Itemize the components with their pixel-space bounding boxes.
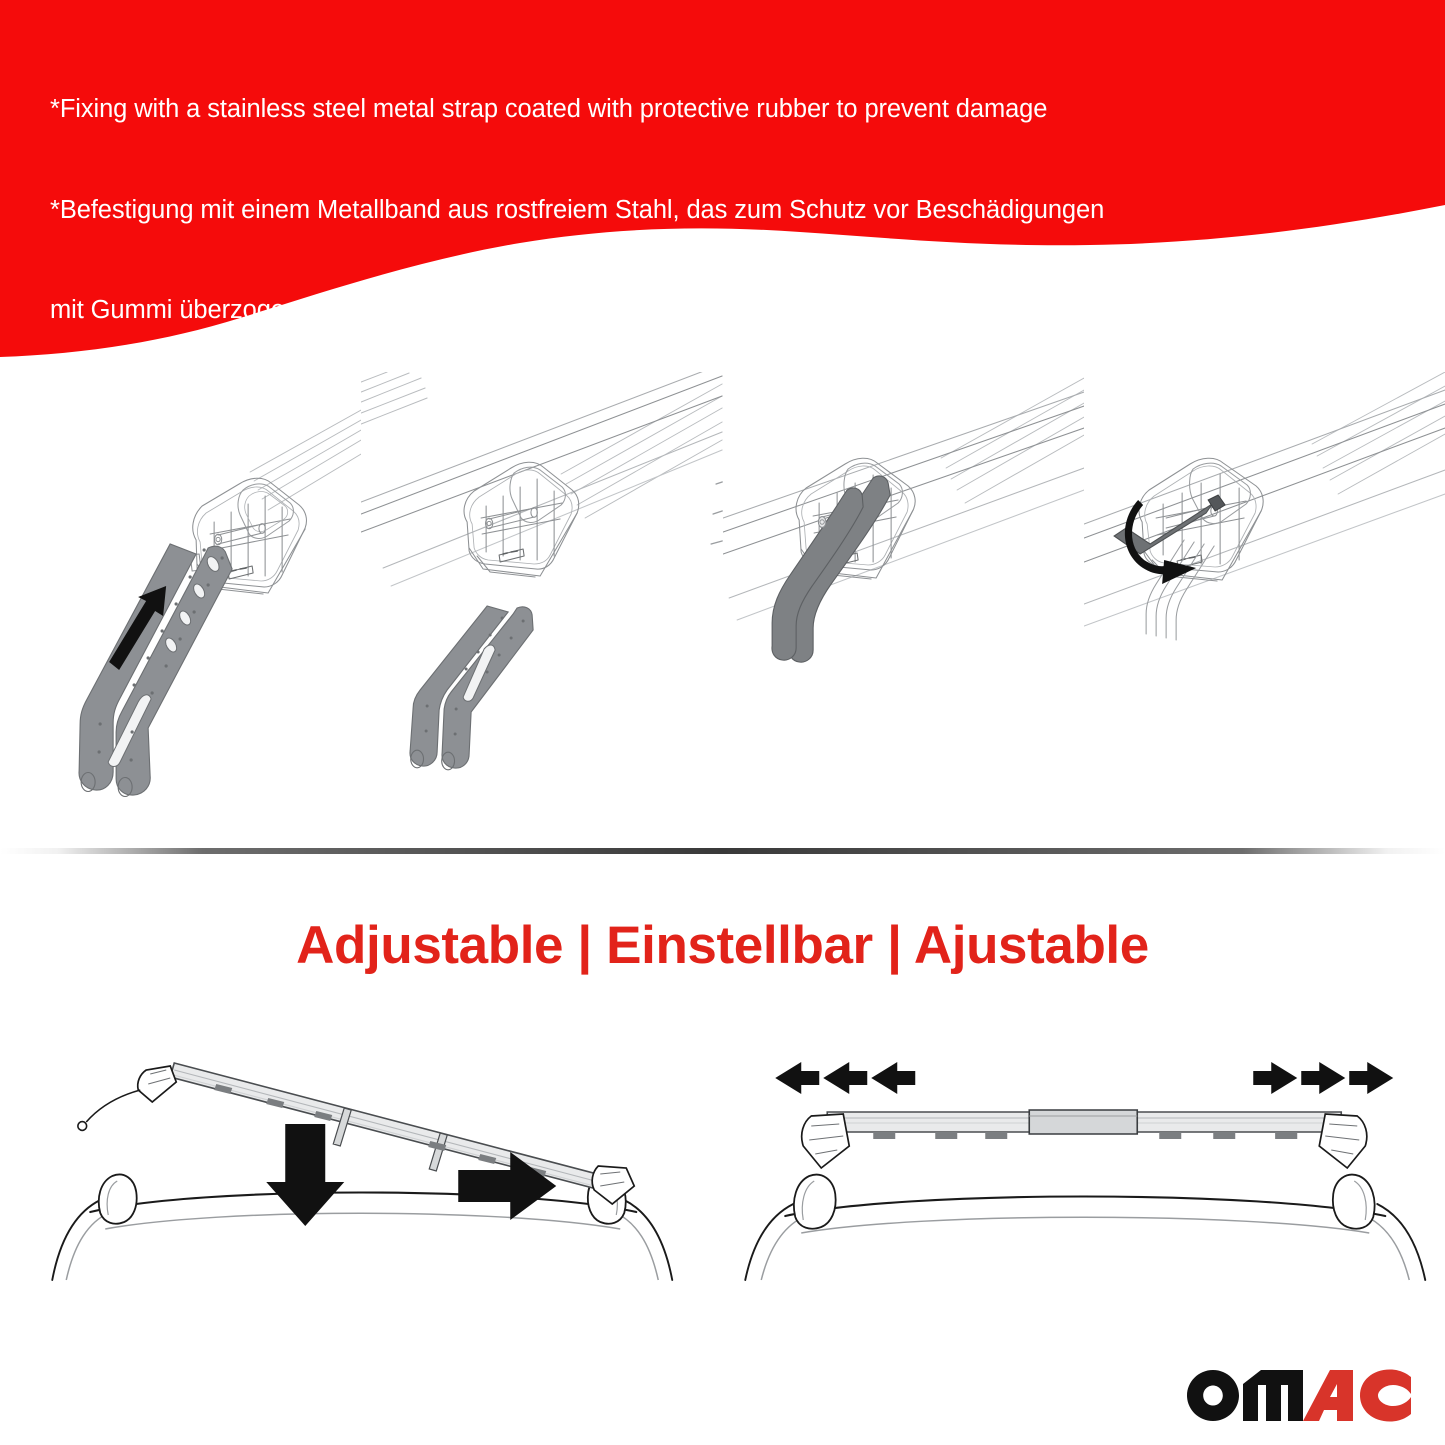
banner-line-2: *Befestigung mit einem Metallband aus ro… [50, 194, 1420, 228]
logo-letter-m [1243, 1370, 1303, 1421]
step-strap-wrapped-illustration [723, 372, 1084, 842]
triple-right-arrow-icon [1253, 1062, 1393, 1094]
product-infographic-page: *Fixing with a stainless steel metal str… [0, 0, 1445, 1445]
logo-letter-c [1360, 1370, 1411, 1422]
diagram-place-crossbar-illustration [0, 1030, 723, 1340]
step-tighten-allen-key-illustration [1084, 372, 1445, 842]
diagram-extend-crossbar-illustration [723, 1030, 1445, 1340]
step-insert-strap-illustration [0, 372, 361, 842]
installation-steps-strip [0, 372, 1445, 842]
adjustable-heading: Adjustable | Einstellbar | Ajustable [0, 915, 1445, 976]
logo-letter-o [1187, 1370, 1239, 1421]
section-divider [0, 848, 1445, 854]
header-banner: *Fixing with a stainless steel metal str… [0, 0, 1445, 370]
diagram-place-crossbar [0, 1030, 723, 1340]
omac-logo-mark [1185, 1366, 1413, 1424]
step-foot-on-rail-illustration [361, 372, 722, 842]
banner-line-3: mit Gummi überzogen ist [50, 294, 1420, 328]
metal-strap-part [410, 606, 533, 770]
triple-left-arrow-icon [775, 1062, 915, 1094]
step-foot-on-rail [361, 372, 722, 842]
step-tighten-allen-key [1084, 372, 1445, 842]
step-strap-wrapped [723, 372, 1084, 842]
omac-logo [1185, 1366, 1413, 1424]
step-insert-strap [0, 372, 361, 842]
diagram-extend-crossbar [723, 1030, 1445, 1340]
adjustable-diagrams [0, 1030, 1445, 1340]
metal-strap-part [79, 544, 232, 797]
banner-line-1: *Fixing with a stainless steel metal str… [50, 93, 1420, 127]
crossbar-part [801, 1110, 1366, 1168]
logo-letter-a [1303, 1370, 1353, 1421]
down-arrow-icon [266, 1124, 344, 1226]
